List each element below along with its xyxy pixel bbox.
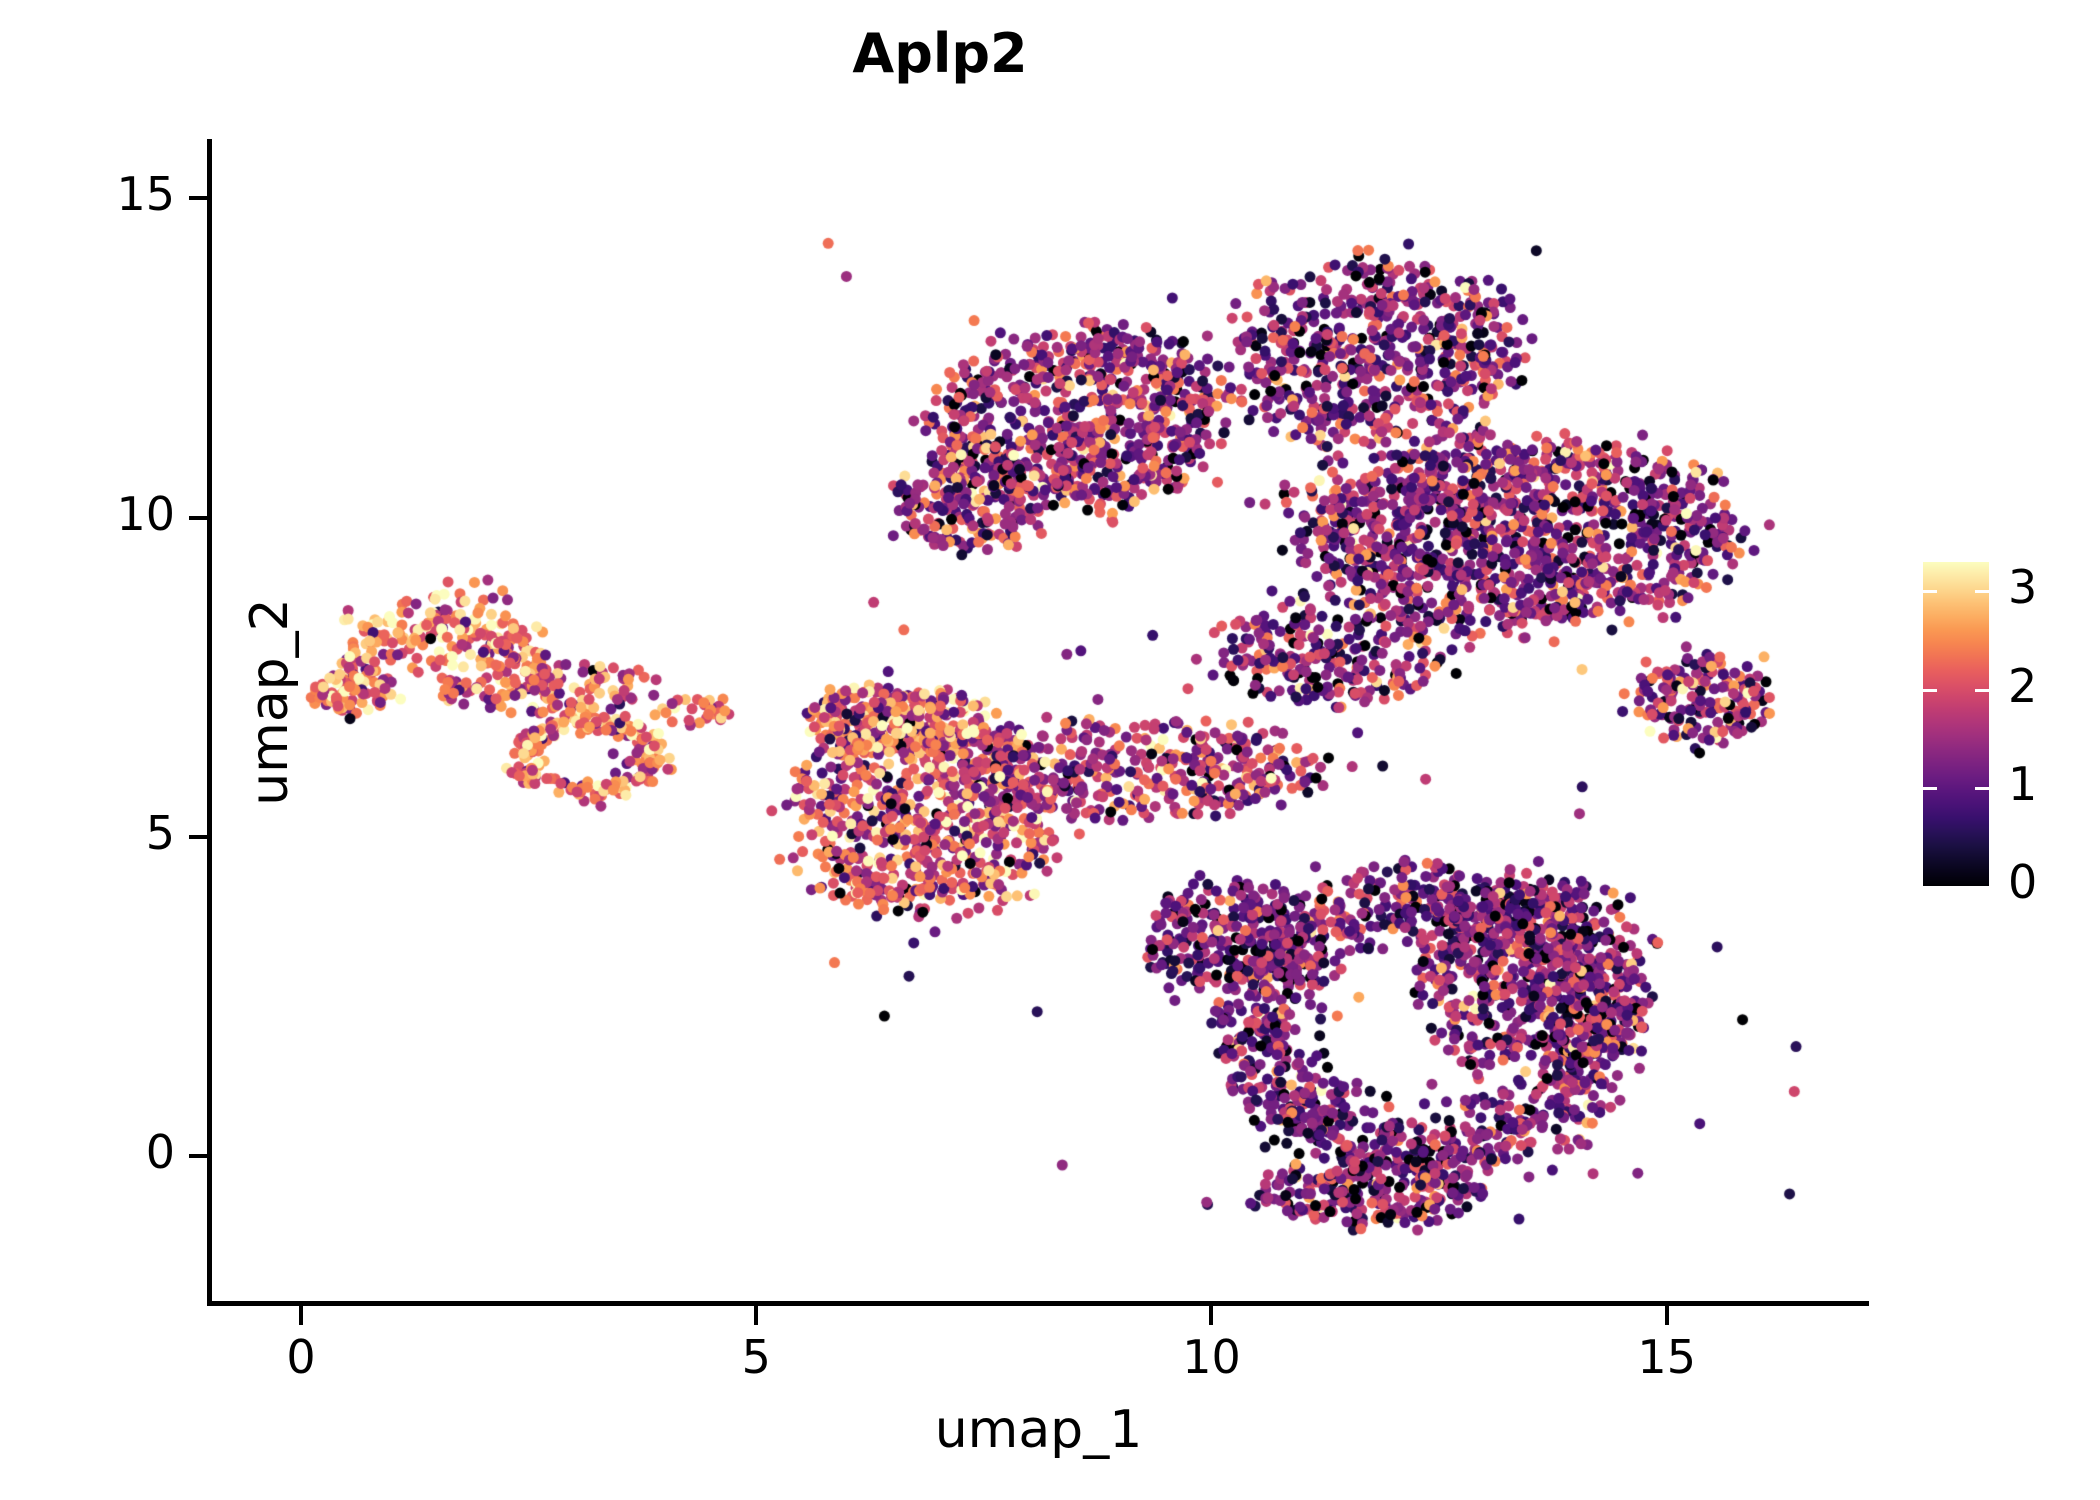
colorbar-tick-mark bbox=[1975, 689, 1989, 692]
x-axis-tick-mark bbox=[1665, 1306, 1669, 1325]
y-axis-tick-label: 5 bbox=[146, 806, 175, 860]
y-axis-tick-mark bbox=[189, 516, 208, 520]
colorbar-tick-label: 0 bbox=[2008, 855, 2037, 909]
colorbar-tick-label: 1 bbox=[2008, 757, 2037, 811]
y-axis-label: umap_2 bbox=[240, 121, 300, 1283]
x-axis-tick-label: 0 bbox=[221, 1330, 381, 1384]
colorbar-tick-mark bbox=[1923, 787, 1937, 790]
axis-spine-left bbox=[207, 139, 212, 1306]
colorbar-gradient bbox=[1923, 562, 1989, 886]
x-axis-tick-label: 15 bbox=[1587, 1330, 1747, 1384]
scatter-plot-axes[interactable] bbox=[210, 141, 1867, 1303]
colorbar-tick-mark bbox=[1975, 787, 1989, 790]
x-axis-tick-mark bbox=[754, 1306, 758, 1325]
y-axis-tick-mark bbox=[189, 196, 208, 200]
y-axis-tick-label: 15 bbox=[116, 167, 175, 221]
figure-canvas: Aplp2 051015051015 umap_1 umap_2 0123 bbox=[0, 0, 2100, 1500]
y-axis-tick-mark bbox=[189, 835, 208, 839]
scatter-points-layer bbox=[210, 141, 1867, 1303]
x-axis-tick-mark bbox=[1209, 1306, 1213, 1325]
x-axis-tick-label: 5 bbox=[676, 1330, 836, 1384]
colorbar-tick-mark bbox=[1923, 590, 1937, 593]
axis-spine-bottom bbox=[207, 1301, 1869, 1306]
page-title: Aplp2 bbox=[0, 22, 1880, 85]
x-axis-tick-label: 10 bbox=[1131, 1330, 1291, 1384]
x-axis-label: umap_1 bbox=[210, 1400, 1867, 1460]
colorbar-tick-mark bbox=[1975, 590, 1989, 593]
colorbar[interactable] bbox=[1923, 562, 1989, 886]
y-axis-tick-label: 10 bbox=[116, 487, 175, 541]
y-axis-tick-label: 0 bbox=[146, 1125, 175, 1179]
x-axis-tick-mark bbox=[299, 1306, 303, 1325]
colorbar-tick-mark bbox=[1923, 689, 1937, 692]
colorbar-tick-label: 3 bbox=[2008, 560, 2037, 614]
y-axis-tick-mark bbox=[189, 1154, 208, 1158]
colorbar-tick-label: 2 bbox=[2008, 659, 2037, 713]
